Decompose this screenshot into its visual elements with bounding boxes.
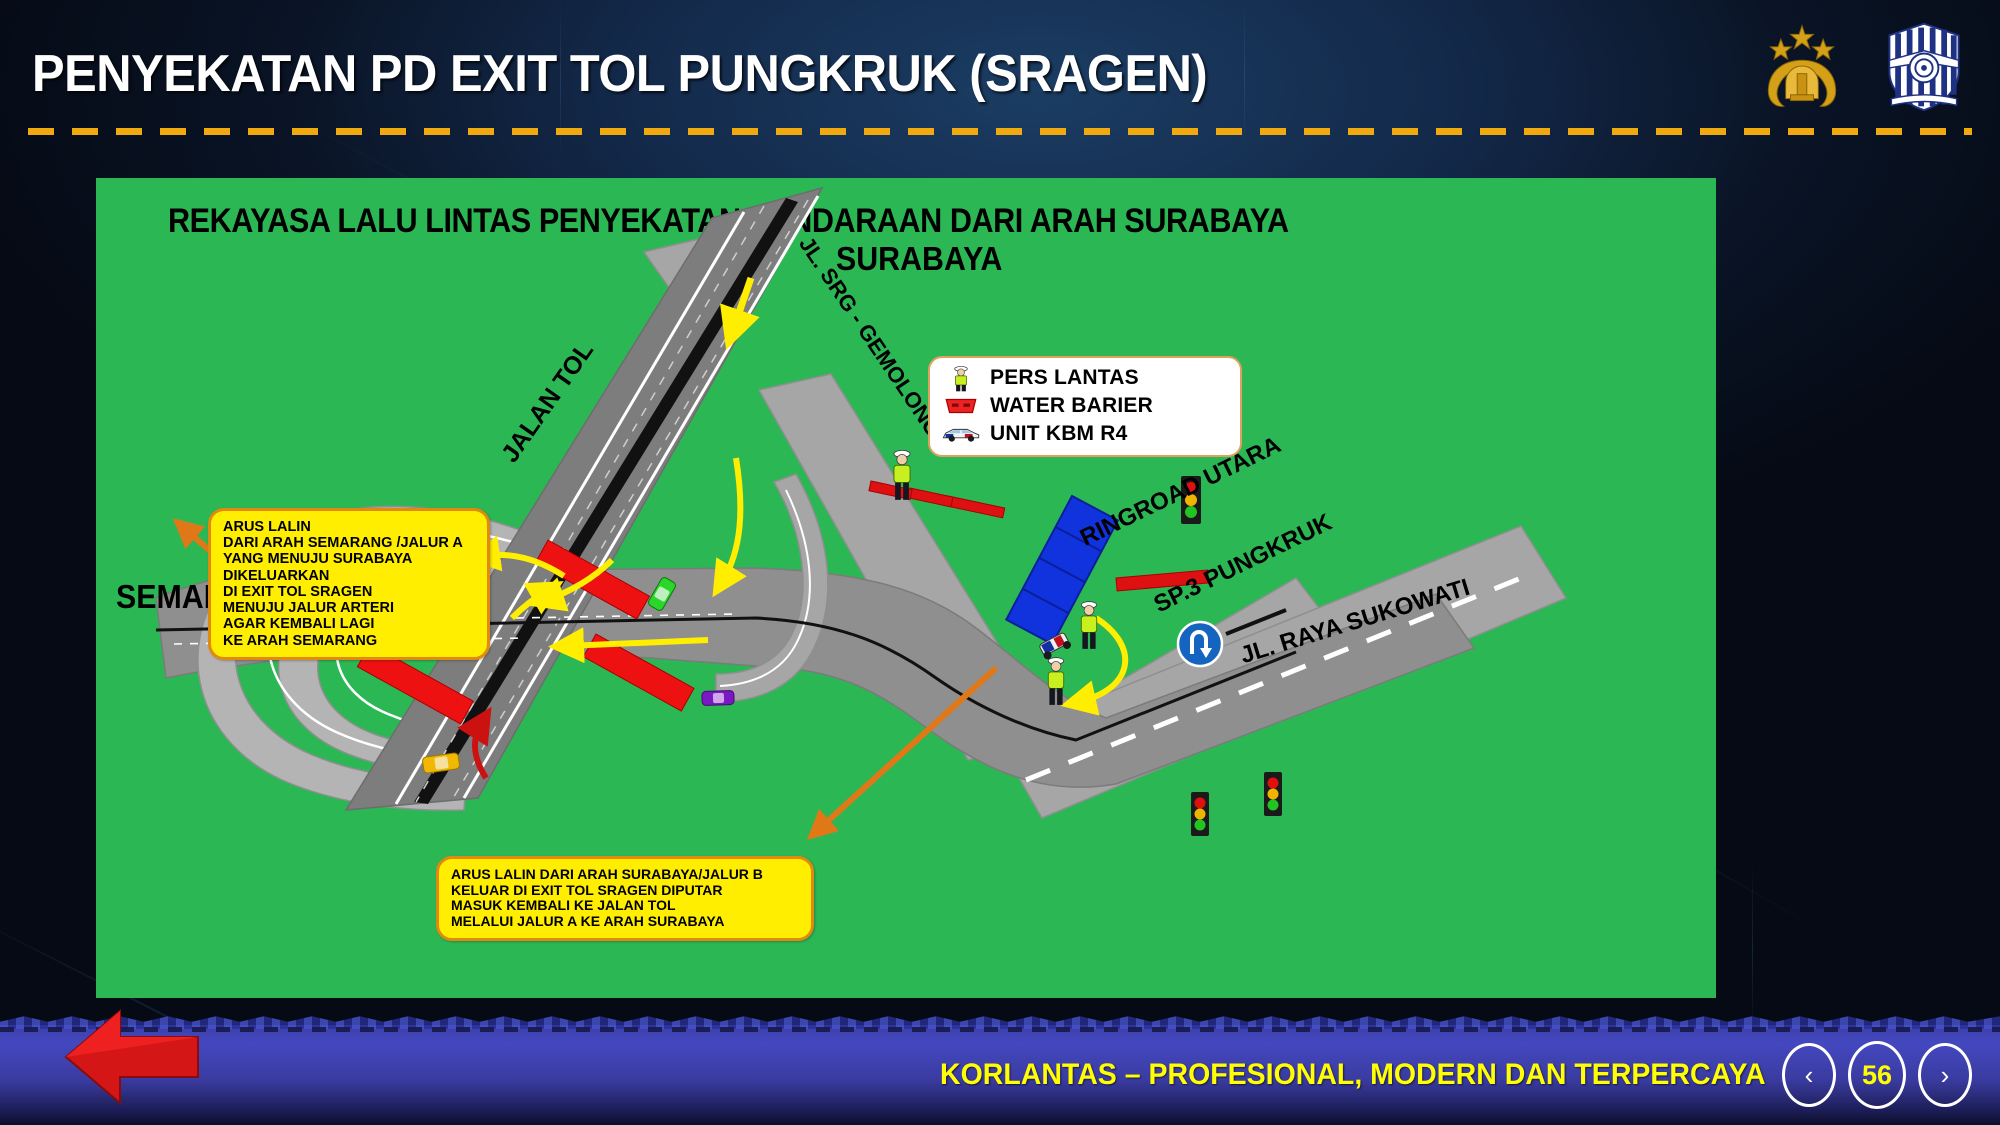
callout-a-line: AGAR KEMBALI LAGI <box>223 616 475 632</box>
header-logos <box>1754 18 1972 114</box>
callout-a-line: MENUJU JALUR ARTERI <box>223 600 475 616</box>
header-divider <box>28 128 1972 135</box>
page-title: PENYEKATAN PD EXIT TOL PUNGKRUK (SRAGEN) <box>32 44 1207 104</box>
legend-label: PERS LANTAS <box>990 366 1139 390</box>
footer-dash-decoration <box>0 1027 2000 1032</box>
legend-row: WATER BARIER <box>940 392 1230 420</box>
callout-b-line: MELALUI JALUR A KE ARAH SURABAYA <box>451 914 799 930</box>
korlantas-traffic-corps-emblem-icon <box>1876 18 1972 114</box>
callout-b-line: MASUK KEMBALI KE JALAN TOL <box>451 898 799 914</box>
callout-a-line: DARI ARAH SEMARANG /JALUR A <box>223 535 475 551</box>
footer-tagline: KORLANTAS – PROFESIONAL, MODERN DAN TERP… <box>940 1058 1766 1092</box>
legend-label: WATER BARIER <box>990 394 1153 418</box>
water-barrier-icon <box>940 392 982 420</box>
callout-a-line: DIKELUARKAN <box>223 568 475 584</box>
slide-root: PENYEKATAN PD EXIT TOL PUNGKRUK (SRAGEN) <box>0 0 2000 1125</box>
map-label-surabaya: SURABAYA <box>836 240 1002 278</box>
callout-b-line: KELUAR DI EXIT TOL SRAGEN DIPUTAR <box>451 883 799 899</box>
prev-slide-button[interactable]: ‹ <box>1782 1043 1836 1107</box>
police-officer-icon <box>1081 602 1096 649</box>
legend-row: UNIT KBM R4 <box>940 420 1230 448</box>
tribrata-police-emblem-icon <box>1754 18 1850 114</box>
traffic-light-icon <box>1191 792 1209 836</box>
callout-a-line: ARUS LALIN <box>223 519 475 535</box>
callout-semarang-flow: ARUS LALIN DARI ARAH SEMARANG /JALUR A Y… <box>208 508 490 660</box>
vehicle-icon <box>702 690 734 705</box>
map-panel: REKAYASA LALU LINTAS PENYEKATAN KENDARAA… <box>96 178 1716 998</box>
callout-a-line: YANG MENUJU SURABAYA <box>223 551 475 567</box>
police-officer-icon <box>940 364 982 392</box>
police-car-icon <box>940 420 982 448</box>
slide-number-badge: 56 <box>1848 1041 1906 1109</box>
legend-label: UNIT KBM R4 <box>990 422 1128 446</box>
background-vertical-line <box>1752 860 1753 1040</box>
callout-b-line: ARUS LALIN DARI ARAH SURABAYA/JALUR B <box>451 867 799 883</box>
back-arrow-button[interactable] <box>62 1007 202 1107</box>
next-slide-button[interactable]: › <box>1918 1043 1972 1107</box>
footer-bar: KORLANTAS – PROFESIONAL, MODERN DAN TERP… <box>0 1025 2000 1125</box>
callout-surabaya-flow: ARUS LALIN DARI ARAH SURABAYA/JALUR B KE… <box>436 856 814 941</box>
traffic-light-icon <box>1264 772 1282 816</box>
slide-navigation: ‹ 56 › <box>1782 1041 1972 1109</box>
callout-a-line: KE ARAH SEMARANG <box>223 633 475 649</box>
callout-a-line: DI EXIT TOL SRAGEN <box>223 584 475 600</box>
map-legend: PERS LANTAS WATER BARIER <box>928 356 1242 457</box>
legend-row: PERS LANTAS <box>940 364 1230 392</box>
